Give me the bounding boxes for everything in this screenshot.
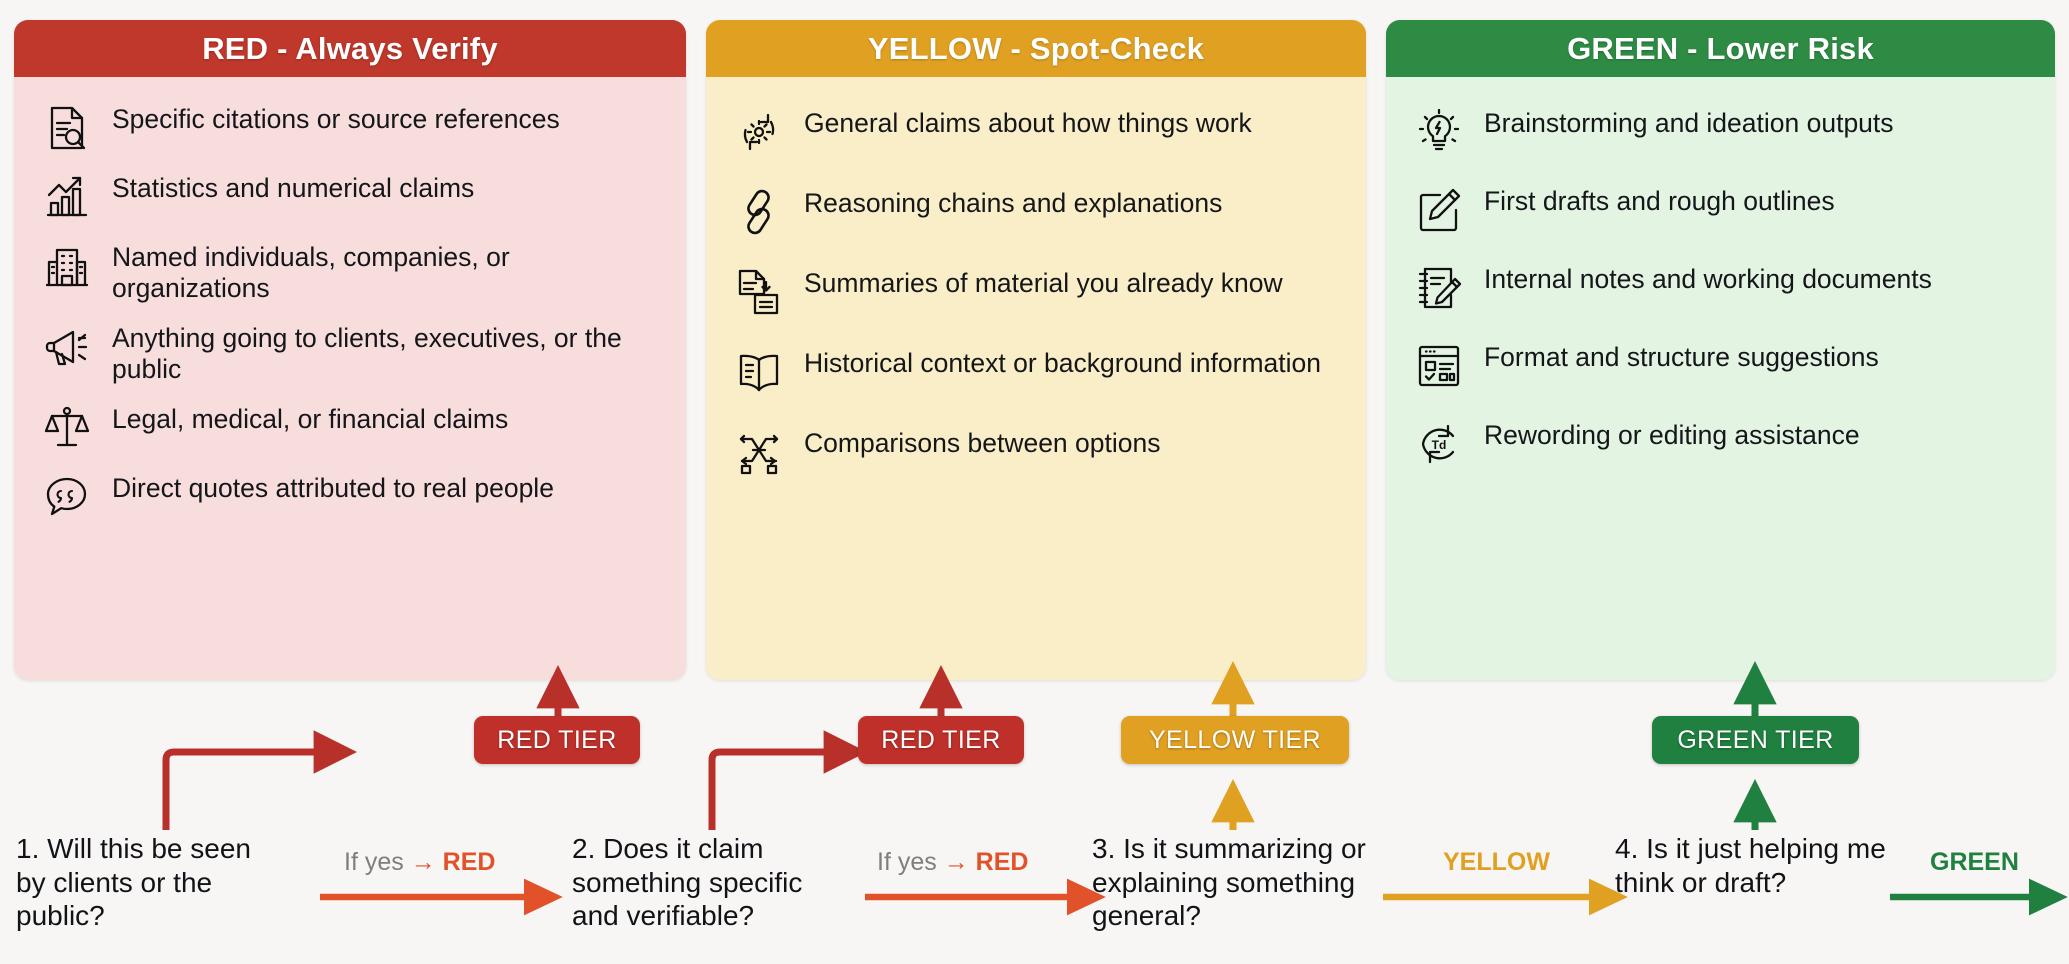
list-item: Direct quotes attributed to real people <box>40 470 660 523</box>
list-item: Td Rewording or editing assistance <box>1412 417 2029 470</box>
list-item-label: Anything going to clients, executives, o… <box>112 320 660 385</box>
flow-label-4: GREEN <box>1930 848 2019 877</box>
list-item: Format and structure suggestions <box>1412 339 2029 392</box>
document-summary-icon <box>732 266 786 318</box>
tier-badge-red-1[interactable]: RED TIER <box>474 716 640 764</box>
tier-card-red: RED - Always Verify Specific citations o… <box>14 20 686 680</box>
flow-label-3: YELLOW <box>1443 848 1550 877</box>
flow-label-2-prefix: If yes <box>877 848 944 876</box>
decision-question-1: 1. Will this be seen by clients or the p… <box>16 832 286 933</box>
list-item-label: Named individuals, companies, or organiz… <box>112 239 660 304</box>
flow-label-1: If yes → RED <box>344 848 495 877</box>
open-book-icon <box>732 346 786 398</box>
quote-bubble-icon <box>40 471 94 523</box>
list-item-label: Summaries of material you already know <box>804 265 1283 299</box>
list-item: Legal, medical, or financial claims <box>40 401 660 454</box>
card-body-red: Specific citations or source references … <box>14 77 686 541</box>
list-item-label: Reasoning chains and explanations <box>804 185 1222 219</box>
list-item-label: Comparisons between options <box>804 425 1160 459</box>
tier-card-green: GREEN - Lower Risk Brainstorming and ide… <box>1386 20 2055 680</box>
list-item-label: Rewording or editing assistance <box>1484 417 1860 451</box>
list-item-label: Legal, medical, or financial claims <box>112 401 508 435</box>
list-item: Named individuals, companies, or organiz… <box>40 239 660 304</box>
chart-trending-up-icon <box>40 171 94 223</box>
list-item-label: Format and structure suggestions <box>1484 339 1879 373</box>
list-item: General claims about how things work <box>732 105 1340 158</box>
megaphone-icon <box>40 321 94 373</box>
card-header-green: GREEN - Lower Risk <box>1386 20 2055 77</box>
tier-badge-red-2[interactable]: RED TIER <box>858 716 1024 764</box>
list-item-label: General claims about how things work <box>804 105 1252 139</box>
infographic-canvas: RED - Always Verify Specific citations o… <box>0 0 2069 964</box>
tier-badge-yellow[interactable]: YELLOW TIER <box>1121 716 1349 764</box>
text-rewrite-icon: Td <box>1412 418 1466 470</box>
list-item-label: Internal notes and working documents <box>1484 261 1932 295</box>
list-item: Specific citations or source references <box>40 101 660 154</box>
list-item-label: First drafts and rough outlines <box>1484 183 1835 217</box>
flow-label-1-value: RED <box>443 848 496 876</box>
scales-balance-icon <box>40 402 94 454</box>
list-item: Anything going to clients, executives, o… <box>40 320 660 385</box>
card-body-green: Brainstorming and ideation outputs First… <box>1386 77 2055 488</box>
list-item: Statistics and numerical claims <box>40 170 660 223</box>
compare-shuffle-icon <box>732 426 786 478</box>
list-item: Comparisons between options <box>732 425 1340 478</box>
notepad-pencil-icon <box>1412 262 1466 314</box>
decision-question-3: 3. Is it summarizing or explaining somet… <box>1092 832 1380 933</box>
decision-question-2: 2. Does it claim something specific and … <box>572 832 854 933</box>
flow-label-1-prefix: If yes <box>344 848 411 876</box>
card-body-yellow: General claims about how things work Rea… <box>706 77 1366 496</box>
list-item-label: Specific citations or source references <box>112 101 560 135</box>
list-item: First drafts and rough outlines <box>1412 183 2029 236</box>
pencil-square-icon <box>1412 184 1466 236</box>
list-item-label: Statistics and numerical claims <box>112 170 474 204</box>
list-item: Reasoning chains and explanations <box>732 185 1340 238</box>
flow-label-2-arrow: → <box>944 848 976 876</box>
decision-question-4: 4. Is it just helping me think or draft? <box>1615 832 1893 899</box>
list-item-label: Historical context or background informa… <box>804 345 1321 379</box>
flow-label-1-arrow: → <box>411 848 443 876</box>
document-search-icon <box>40 102 94 154</box>
list-item-label: Brainstorming and ideation outputs <box>1484 105 1894 139</box>
list-item: Internal notes and working documents <box>1412 261 2029 314</box>
card-header-yellow: YELLOW - Spot-Check <box>706 20 1366 77</box>
chain-link-icon <box>732 186 786 238</box>
flow-label-2-value: RED <box>976 848 1029 876</box>
list-item: Brainstorming and ideation outputs <box>1412 105 2029 158</box>
svg-text:Td: Td <box>1432 438 1447 452</box>
lightbulb-idea-icon <box>1412 106 1466 158</box>
list-item: Summaries of material you already know <box>732 265 1340 318</box>
gear-refresh-icon <box>732 106 786 158</box>
tier-badge-green[interactable]: GREEN TIER <box>1652 716 1859 764</box>
layout-structure-icon <box>1412 340 1466 392</box>
list-item: Historical context or background informa… <box>732 345 1340 398</box>
office-building-icon <box>40 240 94 292</box>
tier-card-yellow: YELLOW - Spot-Check General claims about… <box>706 20 1366 680</box>
card-header-red: RED - Always Verify <box>14 20 686 77</box>
flow-label-2: If yes → RED <box>877 848 1028 877</box>
list-item-label: Direct quotes attributed to real people <box>112 470 554 504</box>
